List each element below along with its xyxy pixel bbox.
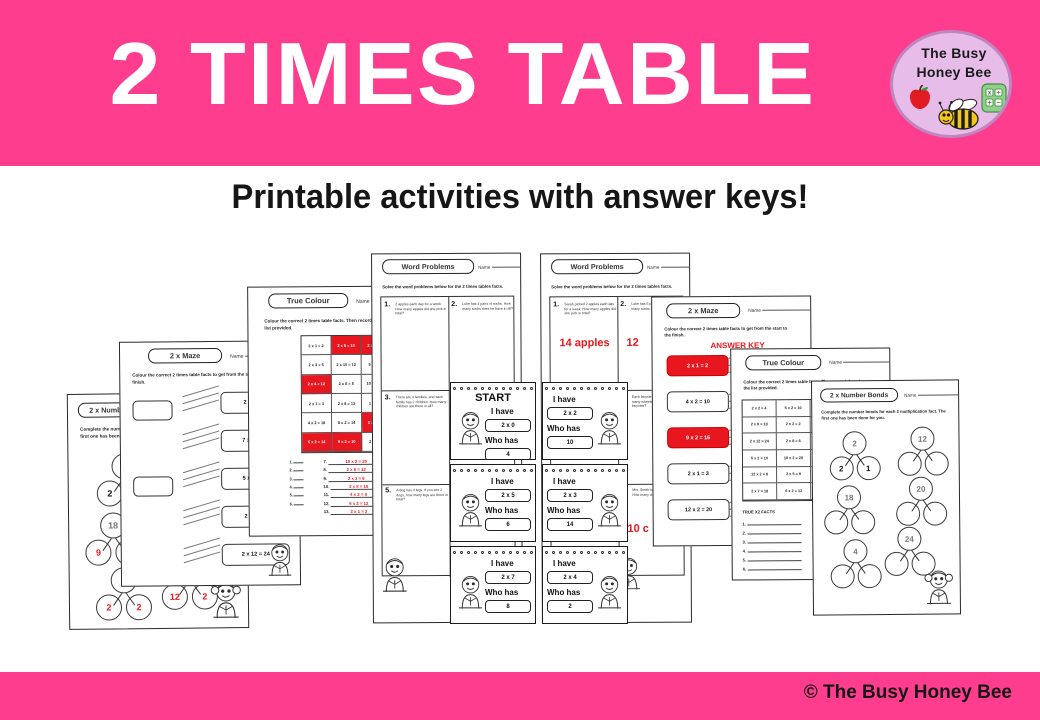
maze-fact-box[interactable] [132, 400, 172, 420]
dot [559, 469, 562, 472]
problem-text: There are 4 families, and each family ha… [396, 395, 448, 409]
apple-icon [907, 85, 933, 110]
problem-text: Sarah picked 2 apples each day for a wee… [564, 302, 616, 316]
answer-list-row-left: 3. [743, 539, 802, 544]
true-colour-cell[interactable]: 2 x 5 = 10 [331, 336, 361, 356]
student-doodle [454, 563, 487, 623]
maze-path-line [184, 537, 221, 549]
problem-number: 2. [620, 301, 626, 308]
dot [481, 387, 484, 390]
problem-number: 2. [451, 301, 457, 308]
worksheet-title: 2 x Maze [666, 303, 740, 319]
dot [509, 469, 512, 472]
dot [552, 551, 555, 554]
dot [545, 469, 548, 472]
student-doodle [454, 481, 487, 541]
dot [530, 551, 533, 554]
ihave-whohas-card[interactable]: I have2 x 5Who has6 [450, 464, 536, 542]
answer-list-row-left: 2. [289, 468, 304, 473]
name-field[interactable]: Name [904, 392, 961, 398]
student-doodle [264, 540, 296, 581]
dot [552, 469, 555, 472]
dot [622, 551, 625, 554]
who-has-value: 10 [547, 436, 593, 449]
who-has-label: Who has [547, 424, 580, 433]
dot [545, 551, 548, 554]
ihave-whohas-card[interactable]: I have2 x 4Who has2 [542, 546, 628, 624]
dot [509, 551, 512, 554]
true-colour-cell[interactable]: 2 x 2 = 2 [777, 417, 811, 434]
svg-text:x: x [988, 90, 992, 97]
i-have-label: I have [491, 559, 514, 568]
footer-bar: © The Busy Honey Bee [0, 672, 1040, 720]
student-doodle-icon [922, 566, 956, 604]
calculator-icon: x ÷ + − [981, 83, 1007, 113]
who-has-label: Who has [485, 506, 518, 515]
decorative-dots [451, 467, 535, 473]
worksheet-title: 2 x Number Bonds [820, 388, 898, 403]
who-has-value: 4 [485, 448, 531, 460]
problem-number: 1. [553, 301, 559, 308]
problem-number: 1. [384, 301, 390, 308]
true-colour-cell[interactable]: 2 x 9 = 18 [743, 417, 777, 434]
dot [580, 551, 583, 554]
bond-sum-circle: 12 [910, 427, 934, 451]
dot [495, 469, 498, 472]
dot [608, 469, 611, 472]
worksheet-title: True Colour [268, 293, 348, 309]
svg-text:+: + [987, 100, 992, 107]
student-doodle-icon [593, 399, 626, 454]
worksheet-title: 2 x Maze [148, 348, 222, 364]
problem-answer: 14 apples [559, 337, 609, 349]
dot [509, 387, 512, 390]
answer-list-row-left: 4. [743, 548, 802, 553]
true-colour-cell[interactable]: 12 x 2 = 8 [743, 467, 777, 484]
true-colour-cell[interactable]: 2 x 2 = 4 [743, 400, 777, 417]
i-have-value: 2 x 0 [485, 419, 531, 432]
worksheet-instruction: Solve the word problems below for the 2 … [382, 284, 516, 291]
worksheet-instruction: Solve the word problems below for the 2 … [551, 284, 685, 291]
student-doodle [922, 566, 956, 609]
dot [523, 387, 526, 390]
student-doodle [593, 563, 626, 623]
dot [453, 469, 456, 472]
true-colour-cell[interactable]: 5 x 2 = 14 [302, 433, 332, 453]
worksheet-title: Word Problems [382, 259, 474, 274]
true-colour-cell[interactable]: 2 x 10 = 12 [332, 355, 362, 375]
bond-sum-circle: 18 [837, 485, 861, 509]
student-doodle-icon [454, 399, 487, 454]
who-has-label: Who has [485, 588, 518, 597]
problem-text: 2 apples each day for a week. How many a… [395, 302, 447, 316]
answer-list-row-left: 2. [742, 530, 801, 535]
maze-fact-box[interactable]: 2 x 1 = 3 [667, 463, 729, 484]
name-field[interactable]: Name [647, 265, 692, 270]
dot [615, 387, 618, 390]
dot [615, 469, 618, 472]
brand-logo: The Busy Honey Bee [890, 30, 1012, 138]
i-have-label: I have [491, 407, 514, 416]
dot [467, 551, 470, 554]
start-label: START [451, 392, 535, 404]
dot [467, 469, 470, 472]
student-doodle [593, 399, 626, 459]
dot [566, 387, 569, 390]
dot [566, 551, 569, 554]
dot [495, 551, 498, 554]
maze-fact-box[interactable]: 4 x 2 = 10 [667, 391, 729, 412]
dot [502, 387, 505, 390]
who-has-value: 14 [547, 518, 593, 531]
dot [516, 387, 519, 390]
true-colour-cell[interactable]: 2 x 6 = 5 [332, 374, 362, 394]
name-field[interactable]: Name [748, 308, 810, 313]
dot [453, 551, 456, 554]
dot [622, 469, 625, 472]
problem-number: 3. [385, 394, 391, 401]
dot [587, 551, 590, 554]
student-doodle-icon [264, 540, 296, 576]
bond-sum-circle: 2 [842, 431, 866, 455]
true-colour-cell[interactable]: 2 x 5 = 9 [777, 467, 811, 484]
student-doodle [378, 554, 412, 597]
dot [488, 469, 491, 472]
dot [594, 387, 597, 390]
true-colour-cell[interactable]: 2 x 3 = 5 [302, 355, 332, 375]
maze-fact-box[interactable]: 12 x 2 = 20 [668, 499, 730, 520]
true-colour-cell[interactable]: 10 x 2 = 20 [777, 450, 811, 467]
decorative-dots [451, 549, 535, 555]
who-has-label: Who has [485, 436, 518, 445]
maze-fact-box[interactable]: 2 x 1 = 2 [667, 355, 729, 376]
maze-path-line [183, 423, 220, 435]
answer-list-row-left: 5. [743, 557, 802, 562]
dot [453, 387, 456, 390]
dot [530, 469, 533, 472]
answer-list-row-left: 3. [289, 476, 304, 481]
true-colour-cell[interactable]: 2 x 8 = 6 [777, 433, 811, 450]
student-doodle-icon [593, 481, 626, 536]
answer-list-row-left: 6. [743, 566, 802, 571]
ihave-whohas-deck: STARTI have2 x 0Who has4I have2 x 2Who h… [450, 382, 630, 627]
ihave-whohas-card[interactable]: I have2 x 3Who has14 [542, 464, 628, 542]
true-colour-cell[interactable]: 2 x 8 = 13 [332, 394, 362, 414]
i-have-label: I have [491, 477, 514, 486]
dot [523, 551, 526, 554]
ihave-whohas-card[interactable]: STARTI have2 x 0Who has4 [450, 382, 536, 460]
answer-list-row-left: 5. [290, 492, 305, 497]
logo-line-2: Honey Bee [893, 64, 1012, 80]
true-colour-cell[interactable]: 6 x 2 = 12 [777, 483, 811, 500]
dot [481, 551, 484, 554]
dot [608, 387, 611, 390]
subtitle: Printable activities with answer keys! [21, 178, 1019, 217]
poster-page: 2 TIMES TABLE The Busy Honey Bee [0, 0, 1040, 720]
worksheet-instruction: Colour the correct 2 times table facts t… [664, 326, 794, 339]
who-has-value: 6 [485, 518, 531, 531]
dot [516, 551, 519, 554]
dot [474, 551, 477, 554]
decorative-dots [543, 549, 627, 555]
page-title: 2 TIMES TABLE [0, 16, 1040, 132]
dot [488, 387, 491, 390]
copyright-text: © The Busy Honey Bee [804, 682, 1012, 704]
i-have-value: 2 x 7 [485, 571, 531, 584]
answer-list-row-left: 4. [290, 484, 305, 489]
true-colour-cell[interactable]: 2 x 7 = 18 [743, 484, 777, 501]
maze-path-line [183, 461, 220, 473]
answer-list-row-left: 1. [742, 521, 801, 526]
i-have-label: I have [553, 477, 576, 486]
bee-icon [935, 95, 987, 135]
dot [559, 551, 562, 554]
dot [559, 387, 562, 390]
problem-answer: 10 c [627, 523, 648, 535]
dot [530, 387, 533, 390]
dot [502, 469, 505, 472]
dot [460, 387, 463, 390]
true-colour-cell[interactable]: 4 x 2 = 18 [302, 413, 332, 433]
problem-text: Luke has 4 pairs of socks. How many sock… [462, 302, 514, 311]
problem-number: 5. [385, 487, 391, 494]
maze-fact-box[interactable]: 9 x 2 = 16 [667, 427, 729, 448]
ihave-whohas-card[interactable]: I have2 x 2Who has10 [542, 382, 628, 460]
student-doodle-icon [378, 554, 412, 592]
svg-text:÷: ÷ [996, 90, 1001, 97]
true-colour-cell[interactable]: 2 x 12 = 24 [743, 434, 777, 451]
answer-list-row-left: 6. [290, 501, 305, 506]
dot [594, 551, 597, 554]
i-have-value: 2 x 4 [547, 571, 593, 584]
true-colour-cell[interactable]: 2 x 4 = 12 [302, 375, 332, 395]
dot [573, 469, 576, 472]
dot [467, 387, 470, 390]
dot [608, 551, 611, 554]
student-doodle [593, 481, 626, 541]
dot [502, 551, 505, 554]
maze-path-line [182, 385, 219, 397]
decorative-dots [543, 467, 627, 473]
dot [587, 387, 590, 390]
who-has-value: 2 [547, 600, 593, 613]
i-have-label: I have [553, 395, 576, 404]
name-field[interactable]: Name [478, 265, 523, 270]
maze-path-line [183, 499, 220, 511]
dot [523, 469, 526, 472]
true-colour-cell[interactable]: 5 x 2 = 10 [743, 450, 777, 467]
dot [587, 469, 590, 472]
true-colour-cell[interactable]: 5 x 2 = 10 [777, 400, 811, 417]
true-colour-cell[interactable]: 9 x 2 = 10 [332, 432, 362, 452]
decorative-dots [543, 385, 627, 391]
true-colour-cell[interactable]: 2 x 1 = 2 [301, 336, 331, 356]
dot [573, 387, 576, 390]
logo-line-1: The Busy [893, 45, 1012, 61]
dot [488, 551, 491, 554]
bond-sum-circle: 4 [843, 539, 867, 563]
decorative-dots [451, 385, 535, 391]
dot [545, 387, 548, 390]
dot [594, 469, 597, 472]
dot [615, 551, 618, 554]
dot [601, 551, 604, 554]
bond-sum-circle: 20 [909, 477, 933, 501]
i-have-value: 2 x 2 [547, 407, 593, 420]
dot [601, 387, 604, 390]
svg-text:−: − [996, 100, 1001, 107]
dot [495, 387, 498, 390]
bond-sum-circle: 24 [897, 527, 921, 551]
answer-list-heading: TRUE X2 FACTS [742, 509, 775, 514]
who-has-label: Who has [547, 588, 580, 597]
problem-answer: 12 [626, 337, 638, 349]
true-colour-cell[interactable]: 2 x 1 = 3 [302, 394, 332, 414]
true-colour-cell[interactable]: 8 x 2 = 14 [332, 413, 362, 433]
student-doodle-icon [593, 563, 626, 618]
i-have-value: 2 x 5 [485, 489, 531, 502]
worksheet-title: Word Problems [551, 259, 643, 274]
worksheet-instruction: Complete the number bonds for each 2 mul… [821, 408, 947, 421]
ihave-whohas-card[interactable]: I have2 x 7Who has8 [450, 546, 536, 624]
name-field[interactable]: Name [829, 360, 891, 365]
dot [516, 469, 519, 472]
student-doodle-icon [454, 563, 487, 618]
dot [474, 387, 477, 390]
i-have-label: I have [553, 559, 576, 568]
dot [552, 387, 555, 390]
dot [573, 551, 576, 554]
who-has-value: 8 [485, 600, 531, 613]
maze-fact-box[interactable] [133, 476, 173, 496]
problem-text: A dog has 4 legs. If you see 2 dogs, how… [396, 488, 448, 502]
student-doodle [454, 399, 487, 459]
dot [566, 469, 569, 472]
student-doodle-icon [454, 481, 487, 536]
who-has-label: Who has [547, 506, 580, 515]
dot [474, 469, 477, 472]
dot [580, 387, 583, 390]
dot [601, 469, 604, 472]
answer-list-row-left: 1. [289, 459, 304, 464]
worksheet-number-bonds-blank[interactable]: 2 x Number BondsName Complete the number… [811, 379, 961, 615]
dot [580, 469, 583, 472]
worksheet-title: True Colour [745, 355, 821, 371]
dot [622, 387, 625, 390]
header-banner: 2 TIMES TABLE The Busy Honey Bee [0, 0, 1040, 166]
dot [460, 551, 463, 554]
i-have-value: 2 x 3 [547, 489, 593, 502]
dot [481, 469, 484, 472]
dot [460, 469, 463, 472]
